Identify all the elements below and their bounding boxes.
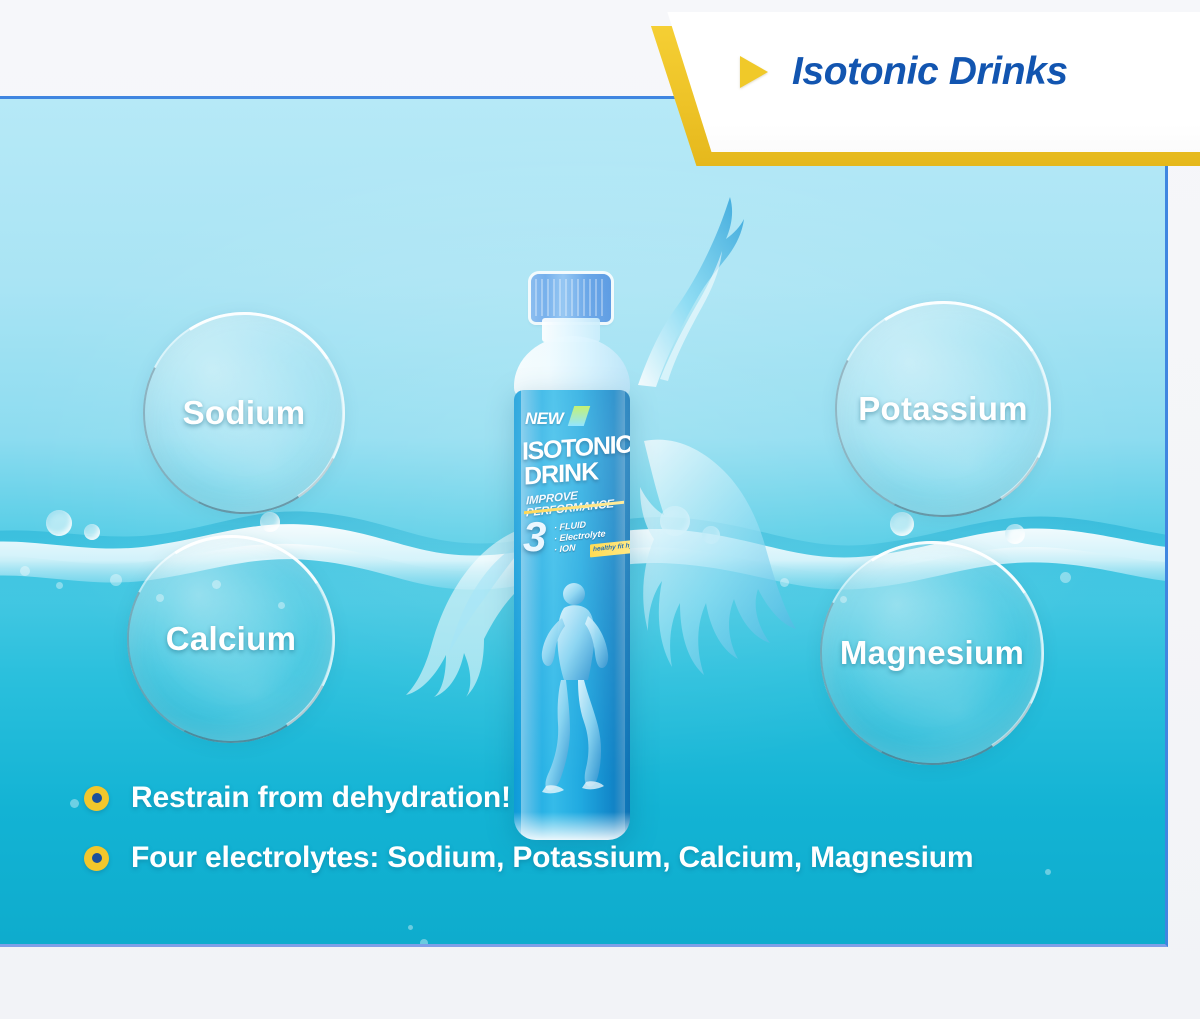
water-runner-figure-icon: [540, 580, 610, 795]
bullet-dot-icon: [84, 786, 109, 811]
label-new-slash-icon: [568, 406, 590, 426]
bullet-dot-icon: [84, 846, 109, 871]
bubble-label: Calcium: [166, 620, 296, 658]
feature-bullet-list: Restrain from dehydration! Four electrol…: [84, 781, 1124, 901]
bottle-label-body: NEW ISOTONIC DRINK IMPROVE PERFORMANCE 3…: [514, 390, 630, 840]
splash-top-right-icon: [630, 189, 760, 389]
label-new: NEW: [525, 410, 563, 427]
label-tag-text: healthy fit hydra: [593, 541, 630, 553]
section-header-banner: Isotonic Drinks: [620, 0, 1200, 190]
bullet-item: Restrain from dehydration!: [84, 781, 1124, 815]
bottle-cap: [531, 274, 611, 322]
bubble-label: Sodium: [183, 394, 306, 432]
bullet-text: Four electrolytes: Sodium, Potassium, Ca…: [131, 841, 973, 875]
bullet-item: Four electrolytes: Sodium, Potassium, Ca…: [84, 841, 1124, 875]
bubble-magnesium[interactable]: Magnesium: [820, 541, 1044, 765]
bubble-label: Magnesium: [840, 634, 1024, 672]
bullet-text: Restrain from dehydration!: [131, 781, 511, 815]
label-name-line2: DRINK: [524, 459, 598, 489]
bubble-potassium[interactable]: Potassium: [835, 301, 1051, 517]
page-title: Isotonic Drinks: [792, 50, 1068, 94]
isotonic-drink-bottle[interactable]: NEW ISOTONIC DRINK IMPROVE PERFORMANCE 3…: [498, 274, 648, 854]
product-hero-panel: Sodium Potassium Calcium Magnesium: [0, 96, 1168, 947]
bubble-label: Potassium: [858, 390, 1028, 428]
bubble-sodium[interactable]: Sodium: [143, 312, 345, 514]
label-number: 3: [523, 516, 546, 558]
bubble-calcium[interactable]: Calcium: [127, 535, 335, 743]
splash-right-icon: [640, 429, 840, 759]
page-background: Sodium Potassium Calcium Magnesium: [0, 0, 1200, 1019]
play-triangle-icon: [740, 56, 768, 88]
